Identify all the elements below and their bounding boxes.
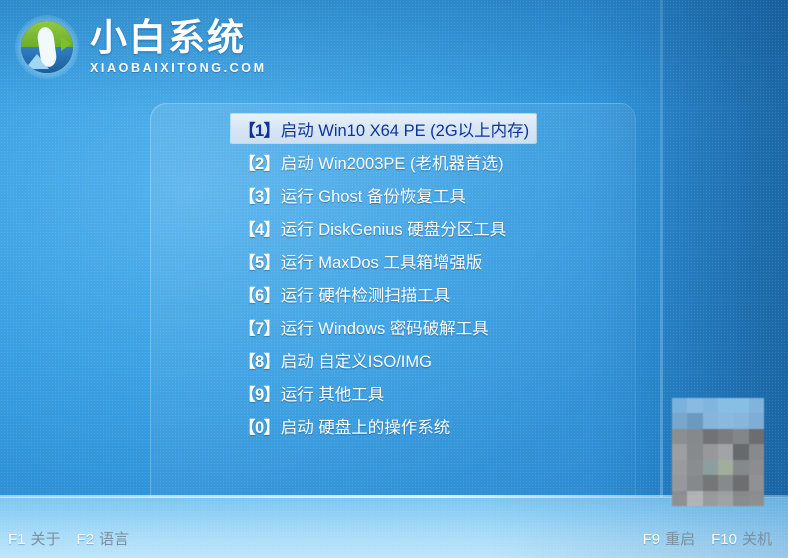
mosaic-tile	[672, 491, 687, 506]
mosaic-tile	[687, 398, 702, 413]
menu-item-key: 【5】	[239, 249, 280, 273]
mosaic-tile	[703, 460, 718, 475]
menu-item-key: 【2】	[239, 150, 280, 174]
mosaic-tile	[718, 429, 733, 444]
mosaic-tile	[749, 398, 764, 413]
mosaic-tile	[672, 413, 687, 428]
brand-logo: 小白系统 XIAOBAIXITONG.COM	[12, 8, 292, 86]
menu-item-key: 【7】	[239, 315, 280, 339]
boot-menu-item-10[interactable]: 【0】启动 硬盘上的操作系统	[231, 411, 541, 440]
mosaic-tile	[749, 413, 764, 428]
status-bar: F1关于F2语言 F9重启F10关机	[0, 518, 788, 558]
mosaic-tile	[749, 475, 764, 490]
status-hint-f2[interactable]: F2语言	[77, 528, 130, 549]
menu-item-label: 运行 DiskGenius 硬盘分区工具	[281, 216, 507, 240]
menu-item-label: 启动 Win10 X64 PE (2G以上内存)	[281, 117, 529, 141]
mosaic-tile	[733, 491, 748, 506]
mosaic-tile	[718, 413, 733, 428]
boot-menu-item-4[interactable]: 【4】运行 DiskGenius 硬盘分区工具	[231, 213, 541, 242]
boot-menu-item-6[interactable]: 【6】运行 硬件检测扫描工具	[231, 279, 541, 308]
mosaic-tile	[687, 444, 702, 459]
status-hint-text: 关机	[742, 528, 772, 549]
mosaic-tile	[687, 491, 702, 506]
mosaic-tile	[703, 491, 718, 506]
menu-item-label: 运行 硬件检测扫描工具	[281, 282, 451, 306]
mosaic-tile	[687, 475, 702, 490]
status-hint-key: F9	[643, 531, 661, 548]
status-hint-key: F10	[711, 531, 737, 548]
menu-item-key: 【9】	[239, 381, 280, 405]
menu-item-label: 启动 Win2003PE (老机器首选)	[281, 150, 504, 174]
boot-menu-item-5[interactable]: 【5】运行 MaxDos 工具箱增强版	[231, 246, 541, 275]
menu-item-key: 【1】	[239, 117, 280, 141]
mosaic-tile	[703, 398, 718, 413]
boot-menu-list[interactable]: 【1】启动 Win10 X64 PE (2G以上内存)【2】启动 Win2003…	[231, 114, 541, 444]
mosaic-tile	[718, 460, 733, 475]
menu-item-key: 【3】	[239, 183, 280, 207]
mosaic-tile	[749, 444, 764, 459]
mosaic-tile	[687, 413, 702, 428]
mosaic-tile	[718, 398, 733, 413]
menu-item-label: 运行 MaxDos 工具箱增强版	[281, 249, 483, 273]
mosaic-tile	[733, 429, 748, 444]
status-hints-left: F1关于F2语言	[8, 528, 137, 549]
status-hint-text: 关于	[31, 528, 61, 549]
status-hint-key: F1	[8, 531, 26, 548]
mosaic-tile	[749, 429, 764, 444]
mosaic-tile	[733, 398, 748, 413]
pixelated-censor-block	[672, 398, 764, 506]
mosaic-tile	[749, 491, 764, 506]
menu-item-key: 【4】	[239, 216, 280, 240]
menu-item-label: 运行 Windows 密码破解工具	[281, 315, 489, 339]
mosaic-tile	[733, 444, 748, 459]
mosaic-tile	[672, 460, 687, 475]
boot-menu-item-3[interactable]: 【3】运行 Ghost 备份恢复工具	[231, 180, 541, 209]
menu-item-key: 【6】	[239, 282, 280, 306]
boot-menu-screen: 小白系统 XIAOBAIXITONG.COM 【1】启动 Win10 X64 P…	[0, 0, 788, 558]
mosaic-tile	[672, 475, 687, 490]
menu-item-key: 【0】	[239, 414, 280, 438]
mosaic-tile	[718, 491, 733, 506]
status-hints-right: F9重启F10关机	[643, 528, 780, 549]
status-hint-text: 重启	[665, 528, 695, 549]
menu-item-label: 启动 硬盘上的操作系统	[281, 414, 451, 438]
boot-menu-item-8[interactable]: 【8】启动 自定义ISO/IMG	[231, 345, 541, 374]
status-hint-text: 语言	[99, 528, 129, 549]
boot-menu-item-9[interactable]: 【9】运行 其他工具	[231, 378, 541, 407]
menu-item-label: 运行 其他工具	[281, 381, 385, 405]
mosaic-tile	[672, 429, 687, 444]
mosaic-tile	[733, 413, 748, 428]
mosaic-tile	[733, 475, 748, 490]
mosaic-tile	[672, 444, 687, 459]
mosaic-tile	[687, 460, 702, 475]
menu-item-label: 启动 自定义ISO/IMG	[281, 348, 432, 372]
mosaic-tile	[703, 413, 718, 428]
status-hint-key: F2	[77, 531, 95, 548]
mosaic-tile	[687, 429, 702, 444]
mosaic-tile	[703, 444, 718, 459]
status-hint-f9[interactable]: F9重启	[643, 528, 696, 549]
boot-menu-item-1[interactable]: 【1】启动 Win10 X64 PE (2G以上内存)	[231, 114, 536, 143]
mosaic-tile	[718, 475, 733, 490]
status-hint-f10[interactable]: F10关机	[711, 528, 772, 549]
mosaic-tile	[718, 444, 733, 459]
brand-subtitle: XIAOBAIXITONG.COM	[90, 62, 267, 75]
mosaic-tile	[703, 475, 718, 490]
menu-item-key: 【8】	[239, 348, 280, 372]
brand-title: 小白系统	[90, 19, 267, 56]
mosaic-tile	[749, 460, 764, 475]
mosaic-tile	[672, 398, 687, 413]
xiaobai-logo-icon	[12, 12, 82, 82]
mosaic-tile	[703, 429, 718, 444]
boot-menu-item-2[interactable]: 【2】启动 Win2003PE (老机器首选)	[231, 147, 541, 176]
mosaic-tile	[733, 460, 748, 475]
menu-item-label: 运行 Ghost 备份恢复工具	[281, 183, 466, 207]
boot-menu-item-7[interactable]: 【7】运行 Windows 密码破解工具	[231, 312, 541, 341]
status-hint-f1[interactable]: F1关于	[8, 528, 61, 549]
